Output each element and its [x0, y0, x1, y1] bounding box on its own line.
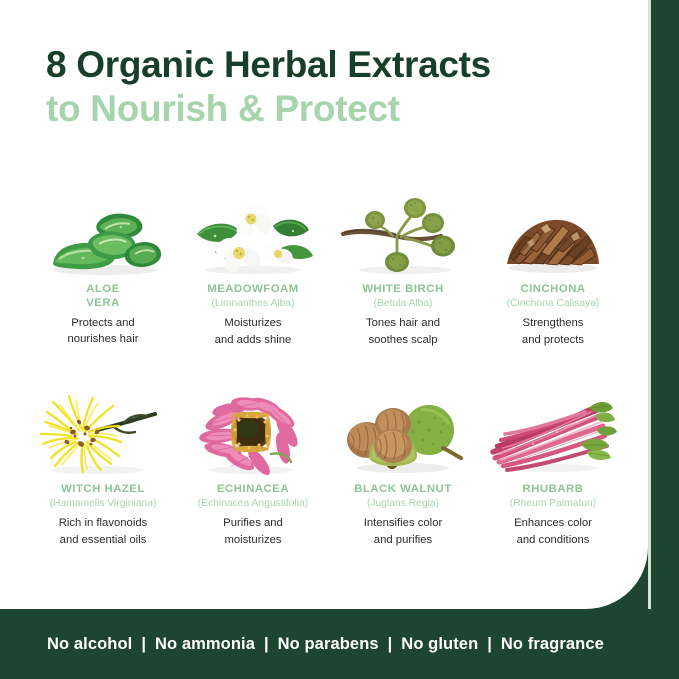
- claim-no-gluten: No gluten: [401, 635, 478, 654]
- herb-desc-line1: Moisturizes: [224, 317, 281, 329]
- herb-desc-line2: nourishes hair: [68, 333, 139, 345]
- claims-footer: No alcohol | No ammonia | No parabens | …: [0, 609, 679, 679]
- black-walnut-nuts-icon: [335, 386, 471, 478]
- accent-stripe: [648, 0, 651, 609]
- herb-latin-name: (Betula Alba): [374, 297, 433, 310]
- herb-latin-name: (Rheum Palmatun): [510, 497, 596, 510]
- herb-desc-line2: and adds shine: [215, 334, 292, 346]
- herb-description: Moisturizes and adds shine: [215, 315, 292, 347]
- herb-grid: ALOE VERA Protects and nourishes hair: [28, 186, 628, 586]
- herb-latin-name: (Echinacea Angustifolia): [198, 497, 308, 510]
- herb-name: WHITE BIRCH: [362, 282, 443, 296]
- herb-name-line1: ALOE: [86, 283, 120, 295]
- herb-description: Intensifies color and purifies: [364, 515, 443, 547]
- herb-desc-line1: Intensifies color: [364, 517, 443, 529]
- claim-separator: |: [132, 635, 155, 654]
- herb-description: Strengthens and protects: [522, 315, 584, 347]
- title-line-1: 8 Organic Herbal Extracts: [46, 44, 636, 85]
- herb-desc-line1: Tones hair and: [366, 317, 440, 329]
- herb-description: Tones hair and soothes scalp: [366, 315, 440, 347]
- herb-desc-line2: and essential oils: [60, 534, 147, 546]
- herb-name: BLACK WALNUT: [354, 482, 452, 496]
- herb-desc-line1: Enhances color: [514, 517, 592, 529]
- herb-description: Enhances color and conditions: [514, 515, 592, 547]
- herb-name: MEADOWFOAM: [207, 282, 298, 296]
- herb-card-meadowfoam: MEADOWFOAM (Limnanthes Alba) Moisturizes…: [178, 186, 328, 386]
- herb-card-rhubarb: RHUBARB (Rheum Palmatun) Enhances color …: [478, 386, 628, 586]
- claim-separator: |: [478, 635, 501, 654]
- herb-desc-line1: Purifies and: [223, 517, 283, 529]
- witch-hazel-flower-icon: [35, 386, 171, 478]
- cinchona-bark-icon: [485, 186, 621, 278]
- herb-card-echinacea: ECHINACEA (Echinacea Angustifolia) Purif…: [178, 386, 328, 586]
- herb-card-cinchona: CINCHONA (Cinchona Calisaya) Strengthens…: [478, 186, 628, 386]
- herb-desc-line1: Protects and: [71, 317, 134, 329]
- meadowfoam-flower-icon: [185, 186, 321, 278]
- herb-latin-name: (Limnanthes Alba): [212, 297, 295, 310]
- aloe-vera-leaves-icon: [35, 186, 171, 278]
- claim-separator: |: [255, 635, 278, 654]
- page-title: 8 Organic Herbal Extracts to Nourish & P…: [46, 44, 636, 130]
- title-line-2: to Nourish & Protect: [46, 88, 636, 129]
- herb-desc-line2: and protects: [522, 334, 584, 346]
- herb-name: ECHINACEA: [217, 482, 289, 496]
- claim-no-ammonia: No ammonia: [155, 635, 255, 654]
- herb-name: WITCH HAZEL: [61, 482, 145, 496]
- claim-no-fragrance: No fragrance: [501, 635, 604, 654]
- claim-separator: |: [379, 635, 402, 654]
- claim-no-parabens: No parabens: [278, 635, 379, 654]
- herb-latin-name: (Cinchona Calisaya): [507, 297, 600, 310]
- herb-desc-line1: Rich in flavonoids: [59, 517, 148, 529]
- herb-name: RHUBARB: [523, 482, 584, 496]
- herb-description: Rich in flavonoids and essential oils: [59, 515, 148, 547]
- herb-card-black-walnut: BLACK WALNUT (Juglans Regia) Intensifies…: [328, 386, 478, 586]
- herb-name-line2: VERA: [86, 297, 120, 309]
- rhubarb-stalks-icon: [485, 386, 621, 478]
- claim-no-alcohol: No alcohol: [47, 635, 132, 654]
- herb-card-aloe-vera: ALOE VERA Protects and nourishes hair: [28, 186, 178, 386]
- herb-description: Purifies and moisturizes: [223, 515, 283, 547]
- herb-name: ALOE VERA: [86, 282, 120, 310]
- herb-desc-line1: Strengthens: [523, 317, 584, 329]
- herb-name: CINCHONA: [520, 282, 585, 296]
- herb-latin-name: (Juglans Regia): [367, 497, 439, 510]
- claims-list: No alcohol | No ammonia | No parabens | …: [0, 635, 604, 654]
- herb-desc-line2: moisturizes: [224, 534, 281, 546]
- herb-description: Protects and nourishes hair: [68, 315, 139, 347]
- herb-desc-line2: and purifies: [374, 534, 432, 546]
- herb-card-white-birch: WHITE BIRCH (Betula Alba) Tones hair and…: [328, 186, 478, 386]
- herb-latin-name: (Hamamelis Virginiana): [50, 497, 157, 510]
- herb-desc-line2: soothes scalp: [368, 334, 437, 346]
- herb-desc-line2: and conditions: [517, 534, 590, 546]
- white-birch-catkins-icon: [335, 186, 471, 278]
- echinacea-flower-icon: [185, 386, 321, 478]
- herb-card-witch-hazel: WITCH HAZEL (Hamamelis Virginiana) Rich …: [28, 386, 178, 586]
- poster-background: 8 Organic Herbal Extracts to Nourish & P…: [0, 0, 679, 679]
